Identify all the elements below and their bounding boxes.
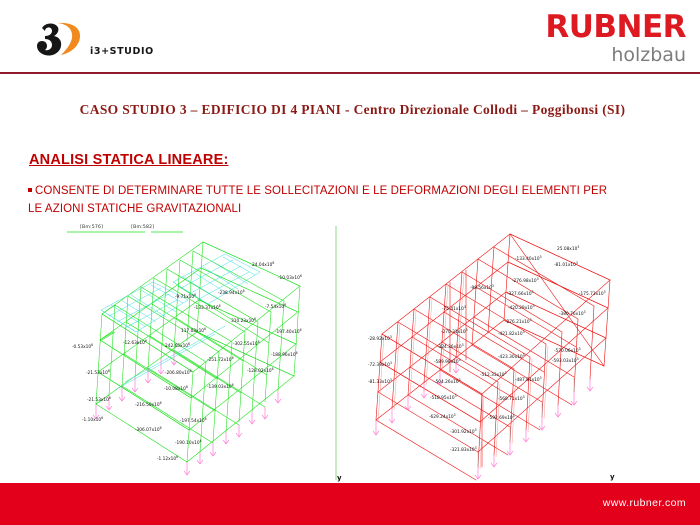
red-model-value-label: -81.33x103 bbox=[368, 378, 392, 385]
green-model-top-labels: [Bm:576][Bm:582] bbox=[80, 225, 154, 230]
red-model-value-label: -81.01x103 bbox=[554, 261, 578, 268]
section-heading: ANALISI STATICA LINEARE: bbox=[29, 152, 228, 168]
rubner-logo-wordmark: RUBNER bbox=[516, 12, 686, 43]
green-model-value-label: 310.23x106 bbox=[231, 317, 256, 324]
green-model-value-label: -206.80x106 bbox=[165, 369, 192, 376]
green-model-value-label: -238.94x106 bbox=[218, 289, 245, 296]
i3-studio-logo: i3+STUDIO bbox=[28, 20, 143, 62]
green-model-value-label: -128.02x106 bbox=[247, 367, 274, 374]
figure-green-frame-model: [Bm:576][Bm:582] bbox=[55, 222, 355, 484]
red-model-axis-y-label: y bbox=[610, 473, 615, 481]
green-model-value-label: -188.96x106 bbox=[271, 351, 298, 358]
red-model-value-label: -324.36x103 bbox=[437, 343, 464, 350]
red-model-value-label: -270.31x103 bbox=[441, 328, 468, 335]
green-model-value-label: -139.03x106 bbox=[207, 383, 234, 390]
red-model-value-label: -75.41x103 bbox=[442, 305, 466, 312]
bullet-marker-icon bbox=[28, 188, 32, 192]
rubner-logo: RUBNER holzbau bbox=[516, 12, 686, 64]
red-model-value-label: -276.98x103 bbox=[512, 277, 539, 284]
red-model-value-label: -327.66x103 bbox=[507, 290, 534, 297]
red-model-value-label: -593.03x103 bbox=[552, 357, 579, 364]
green-model-value-label: -197.40x106 bbox=[275, 328, 302, 335]
green-model-value-label: -306.07x106 bbox=[135, 426, 162, 433]
red-model-value-label: -98.56x103 bbox=[470, 284, 494, 291]
page-title: CASO STUDIO 3 – EDIFICIO DI 4 PIANI - Ce… bbox=[30, 102, 675, 118]
green-model-value-label: -133.37x106 bbox=[194, 304, 221, 311]
red-model-value-label: -420.29x103 bbox=[508, 304, 535, 311]
green-model-value-label: 242.65x106 bbox=[165, 342, 190, 349]
green-model-value-label: -10.03x106 bbox=[278, 274, 302, 281]
red-model-value-label: -421.82x103 bbox=[498, 330, 525, 337]
red-model-value-label: -276.21x103 bbox=[505, 318, 532, 325]
red-model-value-label: -301.92x103 bbox=[450, 428, 477, 435]
red-model-value-label: -175.73x103 bbox=[579, 290, 606, 297]
slide-header: i3+STUDIO RUBNER holzbau bbox=[0, 0, 700, 72]
green-model-value-label: -21.53x106 bbox=[86, 369, 110, 376]
green-model-top-label-1: [Bm:582] bbox=[131, 225, 154, 230]
green-model-value-label: -21.53x106 bbox=[87, 396, 111, 403]
i3-studio-logo-text: i3+STUDIO bbox=[90, 46, 154, 57]
red-model-value-label: -569.71x103 bbox=[498, 395, 525, 402]
red-model-value-label: -423.30x103 bbox=[498, 353, 525, 360]
green-model-value-label: -10.08x106 bbox=[164, 385, 188, 392]
figure-red-frame-model: 25.08x103-133.40x103-81.01x103-276.98x10… bbox=[360, 222, 695, 484]
slide-root: i3+STUDIO RUBNER holzbau CASO STUDIO 3 –… bbox=[0, 0, 700, 525]
red-model-value-label: -321.83x103 bbox=[450, 446, 477, 453]
green-model-value-label: -1.10x106 bbox=[82, 416, 103, 423]
footer-url: www.rubner.com bbox=[603, 497, 686, 509]
red-model-value-label: -72.39x103 bbox=[368, 361, 392, 368]
green-frame-svg: 24.04x106-10.03x106-238.94x106-9.71x106-… bbox=[55, 222, 355, 484]
green-model-value-label: -7.54x106 bbox=[265, 303, 286, 310]
green-model-value-label: 117.03x106 bbox=[181, 327, 206, 334]
red-frame-svg: 25.08x103-133.40x103-81.01x103-276.98x10… bbox=[360, 222, 695, 484]
red-model-value-label: -592.69x103 bbox=[488, 414, 515, 421]
green-model-value-label: -1.12x106 bbox=[157, 455, 178, 462]
bullet-line-1: CONSENTE DI DETERMINARE TUTTE LE SOLLECI… bbox=[35, 185, 607, 197]
i3-studio-mark-icon bbox=[28, 20, 88, 60]
red-model-value-label: -133.40x103 bbox=[515, 255, 542, 262]
green-model-value-label: 24.04x106 bbox=[252, 261, 274, 268]
red-model-value-label: -512.33x103 bbox=[480, 371, 507, 378]
figure-separator-axis bbox=[330, 222, 342, 484]
red-model-value-label: -504.26x103 bbox=[434, 378, 461, 385]
green-model-value-label: -0.53x106 bbox=[72, 343, 93, 350]
rubner-logo-subtitle: holzbau bbox=[516, 45, 686, 66]
green-model-value-label: -251.72x106 bbox=[207, 356, 234, 363]
red-model-value-label: -380.76x103 bbox=[559, 310, 586, 317]
red-model-value-label: 25.08x103 bbox=[557, 245, 579, 252]
green-model-value-label: -302.55x106 bbox=[233, 340, 260, 347]
bullet-line-2: LE AZIONI STATICHE GRAVITAZIONALI bbox=[28, 203, 241, 215]
green-model-top-label-0: [Bm:576] bbox=[80, 225, 103, 230]
bullet-paragraph: CONSENTE DI DETERMINARE TUTTE LE SOLLECI… bbox=[28, 182, 673, 218]
red-model-value-label: -28.92x103 bbox=[368, 335, 392, 342]
red-model-value-label: -589.98x103 bbox=[434, 358, 461, 365]
green-model-value-label: -216.59x106 bbox=[135, 401, 162, 408]
figures-container: [Bm:576][Bm:582] bbox=[0, 222, 700, 484]
header-divider bbox=[0, 72, 700, 74]
red-model-value-label: -518.95x103 bbox=[430, 394, 457, 401]
green-model-value-label: -9.71x106 bbox=[175, 293, 196, 300]
red-model-value-label: -487.81x103 bbox=[515, 376, 542, 383]
red-model-value-label: -629.24x103 bbox=[429, 413, 456, 420]
green-model-value-label: -12.63x106 bbox=[123, 339, 147, 346]
green-model-value-label: -197.54x106 bbox=[180, 417, 207, 424]
red-model-value-label: -570.06x103 bbox=[554, 347, 581, 354]
green-model-value-label: -190.10x106 bbox=[175, 439, 202, 446]
slide-footer: www.rubner.com bbox=[0, 483, 700, 525]
